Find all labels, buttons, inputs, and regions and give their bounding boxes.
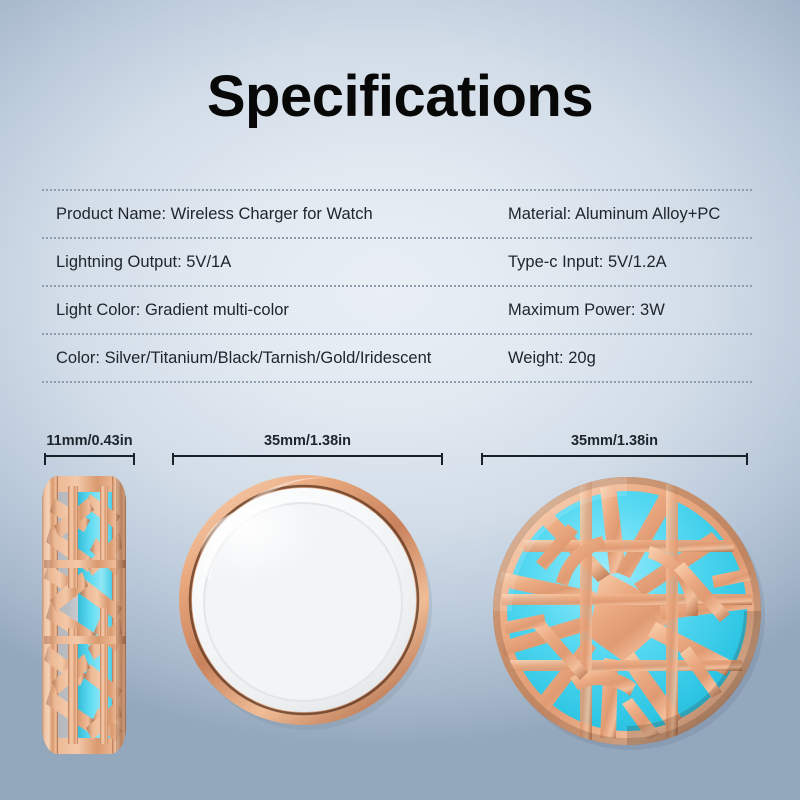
dimension-label: 35mm/1.38in	[172, 433, 443, 449]
dimension-cap-right	[746, 453, 748, 465]
specifications-page: Specifications Product Name: Wireless Ch…	[0, 0, 800, 800]
dimension-cap-left	[44, 453, 46, 465]
table-row: Color: Silver/Titanium/Black/Tarnish/Gol…	[42, 333, 752, 383]
dimension-label: 11mm/0.43in	[44, 433, 135, 449]
dimension-front-view: 35mm/1.38in	[172, 425, 443, 461]
table-row: Lightning Output: 5V/1A Type-c Input: 5V…	[42, 237, 752, 285]
dimension-line	[44, 455, 135, 457]
spec-weight: Weight: 20g	[508, 349, 596, 368]
spec-color-options: Color: Silver/Titanium/Black/Tarnish/Gol…	[56, 349, 431, 368]
spec-light-color: Light Color: Gradient multi-color	[56, 301, 289, 320]
dimension-line	[172, 455, 443, 457]
dimension-line	[481, 455, 748, 457]
dimension-cap-right	[133, 453, 135, 465]
dimension-side-view: 11mm/0.43in	[44, 425, 135, 461]
dimension-cap-left	[172, 453, 174, 465]
spec-typec-input: Type-c Input: 5V/1.2A	[508, 253, 667, 272]
spec-product-name: Product Name: Wireless Charger for Watch	[56, 205, 373, 224]
product-image-side-view	[24, 468, 149, 763]
product-image-front-view	[176, 472, 434, 730]
dimension-cap-right	[441, 453, 443, 465]
spec-material: Material: Aluminum Alloy+PC	[508, 205, 720, 224]
table-row: Light Color: Gradient multi-color Maximu…	[42, 285, 752, 333]
specifications-table: Product Name: Wireless Charger for Watch…	[42, 189, 752, 383]
dimension-label: 35mm/1.38in	[481, 433, 748, 449]
dimension-back-view: 35mm/1.38in	[481, 425, 748, 461]
product-image-back-view	[484, 466, 770, 756]
spec-lightning-output: Lightning Output: 5V/1A	[56, 253, 231, 272]
spec-maximum-power: Maximum Power: 3W	[508, 301, 665, 320]
table-row: Product Name: Wireless Charger for Watch…	[42, 189, 752, 237]
page-title: Specifications	[0, 68, 800, 126]
dimension-cap-left	[481, 453, 483, 465]
